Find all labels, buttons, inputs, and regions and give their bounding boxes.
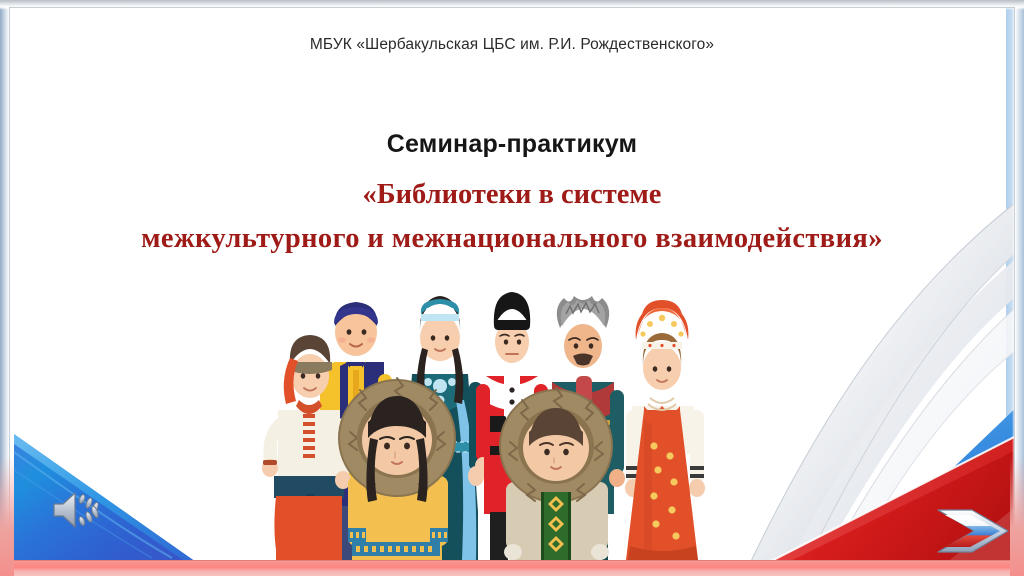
speaker-icon[interactable] [48, 486, 104, 534]
seminar-title-line-2: межкультурного и межнационального взаимо… [40, 217, 984, 261]
presentation-slide: МБУК «Шербакульская ЦБС им. Р.И. Рождест… [0, 0, 1024, 576]
event-type-heading: Семинар-практикум [40, 130, 984, 159]
seminar-title-line-1: «Библиотеки в системе [363, 179, 662, 210]
title-block: Семинар-практикум «Библиотеки в системе … [40, 130, 984, 261]
organization-name: МБУК «Шербакульская ЦБС им. Р.И. Рождест… [0, 36, 1024, 54]
ethnic-costumes-illustration [250, 270, 730, 560]
chevron-logo-icon[interactable] [934, 504, 1012, 558]
seminar-title: «Библиотеки в системе межкультурного и м… [40, 173, 984, 261]
